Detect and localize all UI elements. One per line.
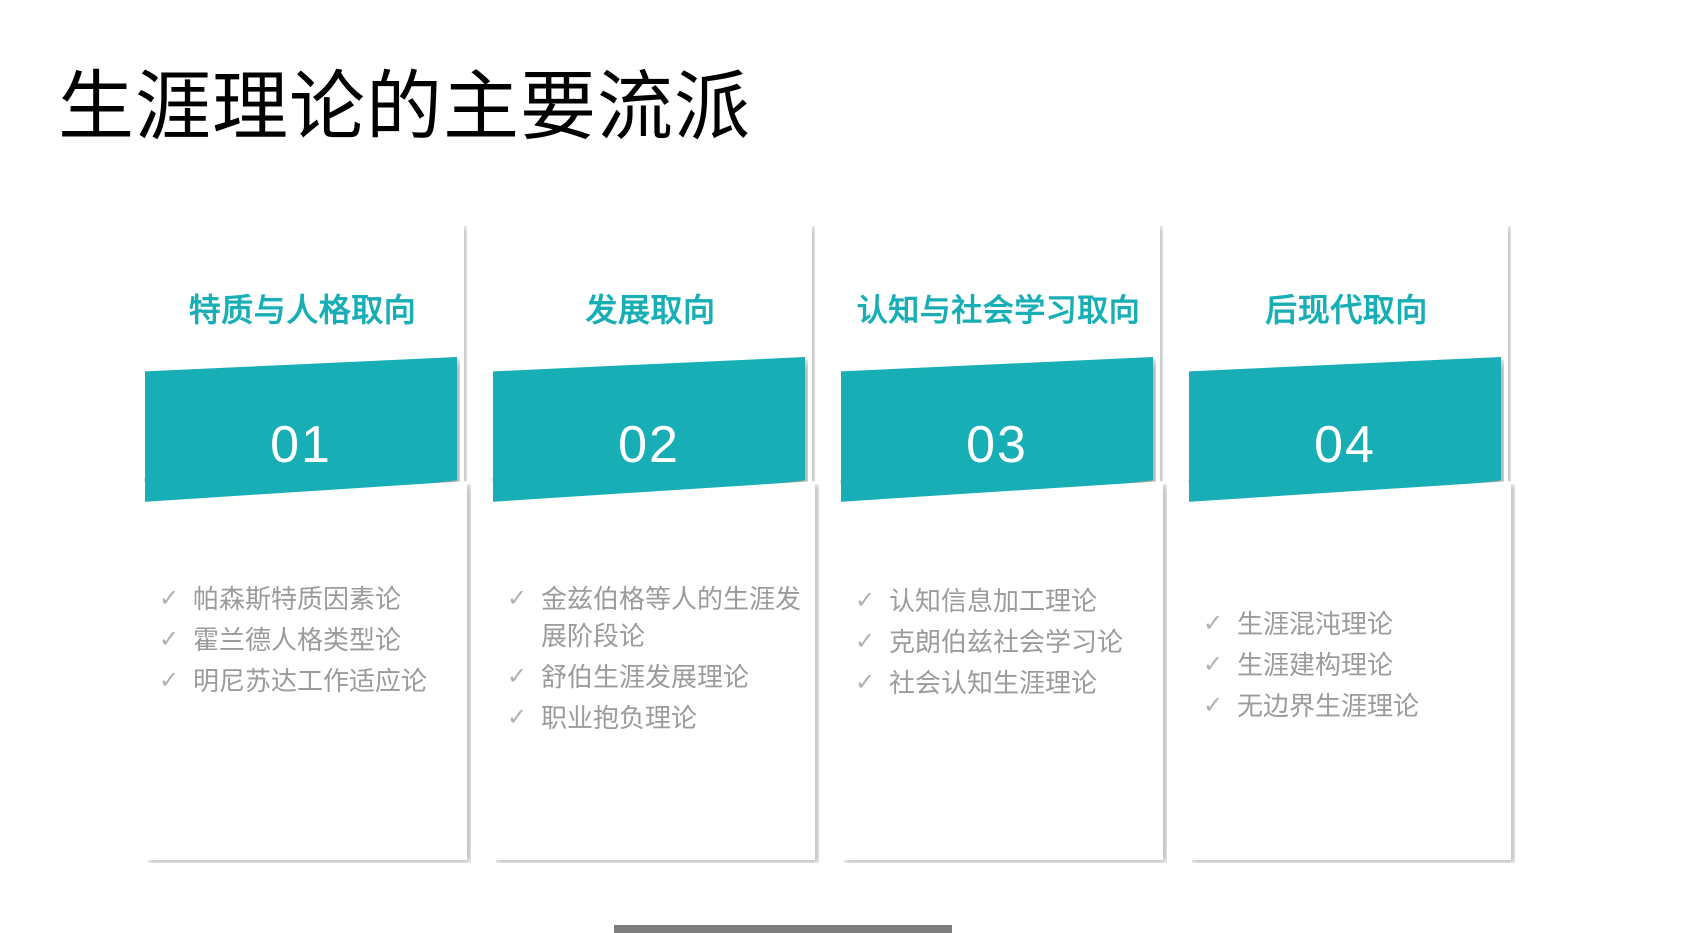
list-item-label: 生涯混沌理论 — [1237, 606, 1503, 643]
check-icon: ✓ — [507, 659, 541, 695]
card-number: 02 — [493, 415, 805, 475]
list-item: ✓ 无边界生涯理论 — [1203, 688, 1503, 725]
check-icon: ✓ — [1203, 688, 1237, 724]
check-icon: ✓ — [855, 583, 889, 619]
card-title: 特质与人格取向 — [141, 285, 464, 331]
theory-card-02[interactable]: 发展取向 02 ✓ 金兹伯格等人的生涯发展阶段论 ✓ 舒伯生涯发展理论 ✓ 职业… — [489, 223, 812, 863]
check-icon: ✓ — [855, 665, 889, 701]
list-item: ✓ 生涯建构理论 — [1203, 647, 1503, 684]
list-item: ✓ 明尼苏达工作适应论 — [159, 663, 459, 700]
bullet-list: ✓ 认知信息加工理论 ✓ 克朗伯兹社会学习论 ✓ 社会认知生涯理论 — [855, 583, 1155, 706]
card-number: 04 — [1189, 415, 1501, 475]
list-item: ✓ 舒伯生涯发展理论 — [507, 659, 807, 696]
list-item: ✓ 生涯混沌理论 — [1203, 606, 1503, 643]
list-item-label: 舒伯生涯发展理论 — [541, 659, 807, 696]
check-icon: ✓ — [507, 700, 541, 736]
slide-progress-bar — [614, 925, 952, 933]
card-grid: 特质与人格取向 01 ✓ 帕森斯特质因素论 ✓ 霍兰德人格类型论 ✓ 明尼苏达工… — [141, 223, 1561, 863]
theory-card-01[interactable]: 特质与人格取向 01 ✓ 帕森斯特质因素论 ✓ 霍兰德人格类型论 ✓ 明尼苏达工… — [141, 223, 464, 863]
list-item: ✓ 帕森斯特质因素论 — [159, 581, 459, 618]
check-icon: ✓ — [159, 581, 193, 617]
card-title: 后现代取向 — [1185, 285, 1508, 331]
card-title: 认知与社会学习取向 — [825, 285, 1172, 330]
card-number: 01 — [145, 415, 457, 475]
slide-canvas: 生涯理论的主要流派 特质与人格取向 01 ✓ 帕森斯特质因素论 ✓ 霍兰德人格类… — [0, 0, 1704, 933]
list-item-label: 克朗伯兹社会学习论 — [889, 624, 1155, 661]
check-icon: ✓ — [1203, 647, 1237, 683]
bullet-list: ✓ 金兹伯格等人的生涯发展阶段论 ✓ 舒伯生涯发展理论 ✓ 职业抱负理论 — [507, 581, 807, 741]
list-item: ✓ 职业抱负理论 — [507, 700, 807, 737]
page-title: 生涯理论的主要流派 — [58, 66, 751, 150]
check-icon: ✓ — [1203, 606, 1237, 642]
list-item: ✓ 社会认知生涯理论 — [855, 665, 1155, 702]
list-item-label: 无边界生涯理论 — [1237, 688, 1503, 725]
theory-card-04[interactable]: 后现代取向 04 ✓ 生涯混沌理论 ✓ 生涯建构理论 ✓ 无边界生涯理论 — [1185, 223, 1508, 863]
list-item-label: 生涯建构理论 — [1237, 647, 1503, 684]
list-item: ✓ 认知信息加工理论 — [855, 583, 1155, 620]
card-title: 发展取向 — [489, 285, 812, 331]
bullet-list: ✓ 帕森斯特质因素论 ✓ 霍兰德人格类型论 ✓ 明尼苏达工作适应论 — [159, 581, 459, 704]
list-item: ✓ 金兹伯格等人的生涯发展阶段论 — [507, 581, 807, 655]
list-item-label: 明尼苏达工作适应论 — [193, 663, 459, 700]
bullet-list: ✓ 生涯混沌理论 ✓ 生涯建构理论 ✓ 无边界生涯理论 — [1203, 606, 1503, 729]
list-item-label: 社会认知生涯理论 — [889, 665, 1155, 702]
theory-card-03[interactable]: 认知与社会学习取向 03 ✓ 认知信息加工理论 ✓ 克朗伯兹社会学习论 ✓ 社会… — [837, 223, 1160, 863]
list-item-label: 认知信息加工理论 — [889, 583, 1155, 620]
list-item: ✓ 克朗伯兹社会学习论 — [855, 624, 1155, 661]
list-item-label: 金兹伯格等人的生涯发展阶段论 — [541, 581, 807, 655]
check-icon: ✓ — [159, 663, 193, 699]
list-item-label: 帕森斯特质因素论 — [193, 581, 459, 618]
check-icon: ✓ — [159, 622, 193, 658]
list-item: ✓ 霍兰德人格类型论 — [159, 622, 459, 659]
list-item-label: 霍兰德人格类型论 — [193, 622, 459, 659]
check-icon: ✓ — [855, 624, 889, 660]
list-item-label: 职业抱负理论 — [541, 700, 807, 737]
check-icon: ✓ — [507, 581, 541, 617]
card-number: 03 — [841, 415, 1153, 475]
